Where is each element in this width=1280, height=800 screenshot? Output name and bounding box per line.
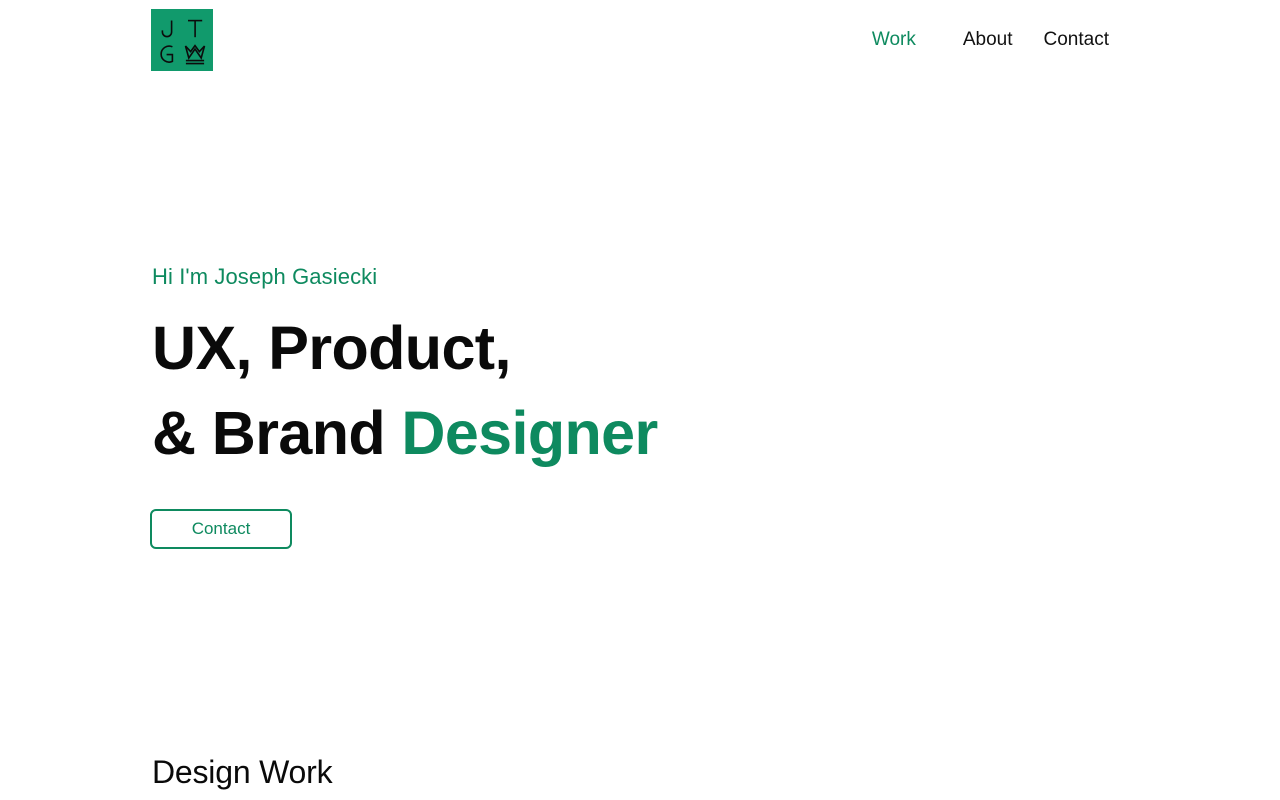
nav-link-contact[interactable]: Contact bbox=[1044, 28, 1109, 52]
main-navigation: Work About Contact bbox=[872, 28, 1109, 52]
page-title: UX, Product, & Brand Designer bbox=[152, 306, 1052, 476]
hero-section: Hi I'm Joseph Gasiecki UX, Product, & Br… bbox=[152, 262, 1052, 476]
hero-title-line-2-plain: & Brand bbox=[152, 399, 401, 467]
design-work-section: Design Work bbox=[152, 750, 1052, 794]
page-root: Work About Contact Hi I'm Joseph Gasieck… bbox=[0, 0, 1280, 800]
hero-title-line-1: UX, Product, bbox=[152, 314, 511, 382]
jtg-crown-logo[interactable] bbox=[151, 9, 213, 71]
site-header: Work About Contact bbox=[0, 0, 1280, 80]
nav-link-about[interactable]: About bbox=[963, 28, 1013, 52]
logo-svg bbox=[151, 9, 213, 71]
logo-background bbox=[151, 9, 213, 71]
contact-button[interactable]: Contact bbox=[150, 509, 292, 549]
design-work-heading: Design Work bbox=[152, 750, 1052, 794]
hero-title-line-2-accent: Designer bbox=[401, 399, 657, 467]
hero-eyebrow: Hi I'm Joseph Gasiecki bbox=[152, 262, 1052, 292]
nav-link-work[interactable]: Work bbox=[872, 28, 916, 52]
